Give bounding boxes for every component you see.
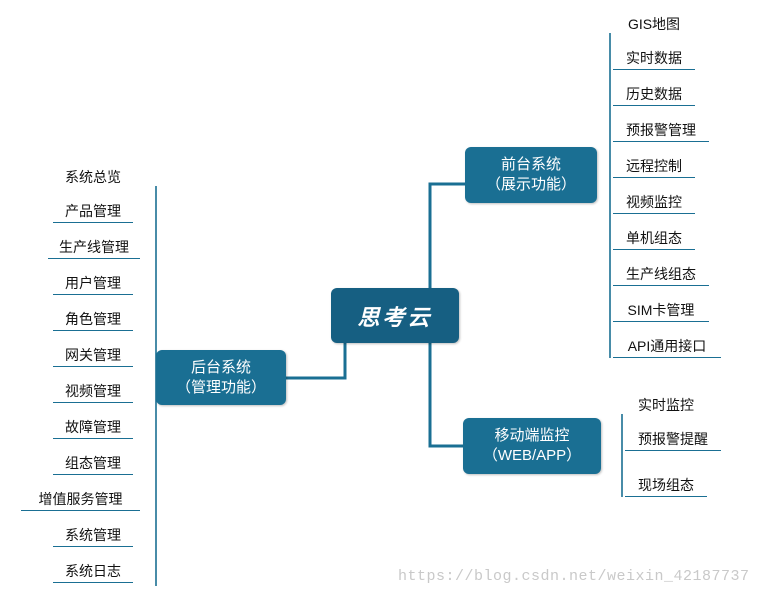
leaf-backend-10-label: 系统管理 xyxy=(65,526,121,544)
leaf-backend-0-label: 系统总览 xyxy=(65,168,121,186)
center-node[interactable]: 思考云 xyxy=(331,288,459,343)
branch-backend-label-line1: 后台系统 xyxy=(191,358,251,378)
leaf-frontend-7-label: 生产线组态 xyxy=(626,265,696,283)
branch-mobile[interactable]: 移动端监控 （WEB/APP） xyxy=(463,418,601,474)
leaf-backend-3[interactable]: 用户管理 xyxy=(53,271,133,295)
leaf-backend-6-label: 视频管理 xyxy=(65,382,121,400)
leaf-frontend-4[interactable]: 远程控制 xyxy=(613,154,695,178)
leaf-frontend-3-label: 预报警管理 xyxy=(626,121,696,139)
leaf-mobile-0[interactable]: 实时监控 xyxy=(625,394,707,416)
leaf-frontend-1-label: 实时数据 xyxy=(626,49,682,67)
leaf-frontend-2-label: 历史数据 xyxy=(626,85,682,103)
leaf-backend-7-label: 故障管理 xyxy=(65,418,121,436)
branch-frontend[interactable]: 前台系统 （展示功能） xyxy=(465,147,597,203)
leaf-backend-9-label: 增值服务管理 xyxy=(39,490,123,508)
leaf-mobile-2[interactable]: 现场组态 xyxy=(625,473,707,497)
leaf-frontend-7[interactable]: 生产线组态 xyxy=(613,262,709,286)
leaf-frontend-8-label: SIM卡管理 xyxy=(628,301,695,319)
branch-backend[interactable]: 后台系统 （管理功能） xyxy=(156,350,286,405)
leaf-frontend-5[interactable]: 视频监控 xyxy=(613,190,695,214)
leaf-backend-0[interactable]: 系统总览 xyxy=(53,166,133,188)
leaf-frontend-6[interactable]: 单机组态 xyxy=(613,226,695,250)
leaf-frontend-9[interactable]: API通用接口 xyxy=(613,334,721,358)
branch-frontend-label-line1: 前台系统 xyxy=(501,155,561,175)
leaf-frontend-0-label: GIS地图 xyxy=(628,15,680,33)
leaf-frontend-2[interactable]: 历史数据 xyxy=(613,82,695,106)
branch-frontend-label-line2: （展示功能） xyxy=(486,175,576,195)
mindmap-canvas: 思考云 后台系统 （管理功能） 系统总览 产品管理 生产线管理 用户管理 角色管… xyxy=(0,0,776,599)
leaf-mobile-2-label: 现场组态 xyxy=(638,476,694,494)
leaf-backend-5-label: 网关管理 xyxy=(65,346,121,364)
leaf-backend-8[interactable]: 组态管理 xyxy=(53,451,133,475)
leaf-frontend-6-label: 单机组态 xyxy=(626,229,682,247)
leaf-backend-9[interactable]: 增值服务管理 xyxy=(21,487,140,511)
leaf-backend-3-label: 用户管理 xyxy=(65,274,121,292)
leaf-frontend-9-label: API通用接口 xyxy=(628,337,707,355)
leaf-mobile-1[interactable]: 预报警提醒 xyxy=(625,427,721,451)
leaf-backend-11-label: 系统日志 xyxy=(65,562,121,580)
center-node-label: 思考云 xyxy=(357,300,432,332)
leaf-backend-2[interactable]: 生产线管理 xyxy=(48,235,140,259)
leaf-backend-5[interactable]: 网关管理 xyxy=(53,343,133,367)
leaf-backend-1[interactable]: 产品管理 xyxy=(53,199,133,223)
leaf-frontend-3[interactable]: 预报警管理 xyxy=(613,118,709,142)
branch-backend-label-line2: （管理功能） xyxy=(176,378,266,398)
leaf-backend-10[interactable]: 系统管理 xyxy=(53,523,133,547)
branch-mobile-label-line1: 移动端监控 xyxy=(494,426,569,446)
leaf-frontend-5-label: 视频监控 xyxy=(626,193,682,211)
leaf-backend-6[interactable]: 视频管理 xyxy=(53,379,133,403)
leaf-backend-4[interactable]: 角色管理 xyxy=(53,307,133,331)
leaf-backend-11[interactable]: 系统日志 xyxy=(53,559,133,583)
leaf-mobile-1-label: 预报警提醒 xyxy=(638,430,708,448)
branch-mobile-label-line2: （WEB/APP） xyxy=(483,446,581,466)
leaf-backend-1-label: 产品管理 xyxy=(65,202,121,220)
leaf-backend-4-label: 角色管理 xyxy=(65,310,121,328)
leaf-backend-2-label: 生产线管理 xyxy=(59,238,129,256)
leaf-backend-7[interactable]: 故障管理 xyxy=(53,415,133,439)
leaf-frontend-0[interactable]: GIS地图 xyxy=(613,13,695,35)
watermark-text: https://blog.csdn.net/weixin_42187737 xyxy=(398,568,750,585)
leaf-frontend-4-label: 远程控制 xyxy=(626,157,682,175)
leaf-frontend-8[interactable]: SIM卡管理 xyxy=(613,298,709,322)
leaf-mobile-0-label: 实时监控 xyxy=(638,396,694,414)
leaf-frontend-1[interactable]: 实时数据 xyxy=(613,46,695,70)
leaf-backend-8-label: 组态管理 xyxy=(65,454,121,472)
